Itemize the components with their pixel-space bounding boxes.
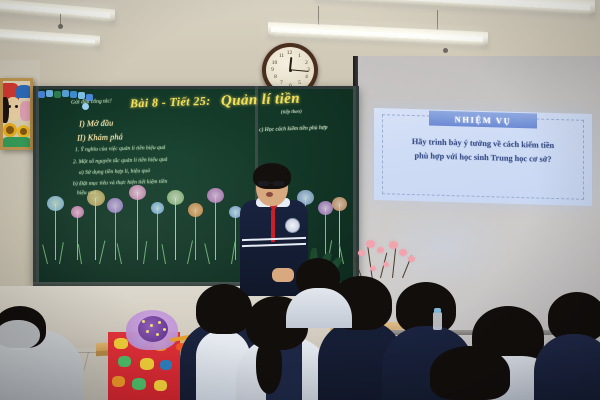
projector-glow xyxy=(380,200,510,290)
glasses-left-lens xyxy=(258,181,269,186)
classroom-photo: 12 1 2 3 4 5 6 7 8 9 10 11 NHIỆM VỤ Hãy … xyxy=(0,0,600,400)
school-badge xyxy=(285,218,300,233)
bottle-cap xyxy=(434,308,441,313)
presenter-mouth xyxy=(266,192,273,197)
framed-artwork xyxy=(0,78,33,150)
board-title-suffix: (tiếp theo) xyxy=(281,110,302,116)
glasses-bridge xyxy=(269,183,273,184)
board-section-2: II) Khám phá xyxy=(77,131,123,142)
board-divider-left xyxy=(36,86,39,286)
board-lesson-title: Quản lí tiền xyxy=(221,91,301,111)
artwork-canvas xyxy=(3,81,30,147)
board-lesson-label: Bài 8 - Tiết 25: xyxy=(130,94,211,112)
glasses-right-lens xyxy=(273,181,284,186)
board-divider-right xyxy=(353,86,356,286)
slide-banner-text: NHIỆM VỤ xyxy=(455,114,512,126)
slide-body: Hãy trình bày ý tưởng về cách kiếm tiền … xyxy=(380,134,586,168)
presenter-hands xyxy=(272,268,294,282)
presentation-slide: NHIỆM VỤ Hãy trình bày ý tưởng về cách k… xyxy=(374,108,592,206)
slide-banner: NHIỆM VỤ xyxy=(429,110,537,128)
water-bottle xyxy=(433,312,442,330)
board-section-1: I) Mở đầu xyxy=(79,118,114,129)
